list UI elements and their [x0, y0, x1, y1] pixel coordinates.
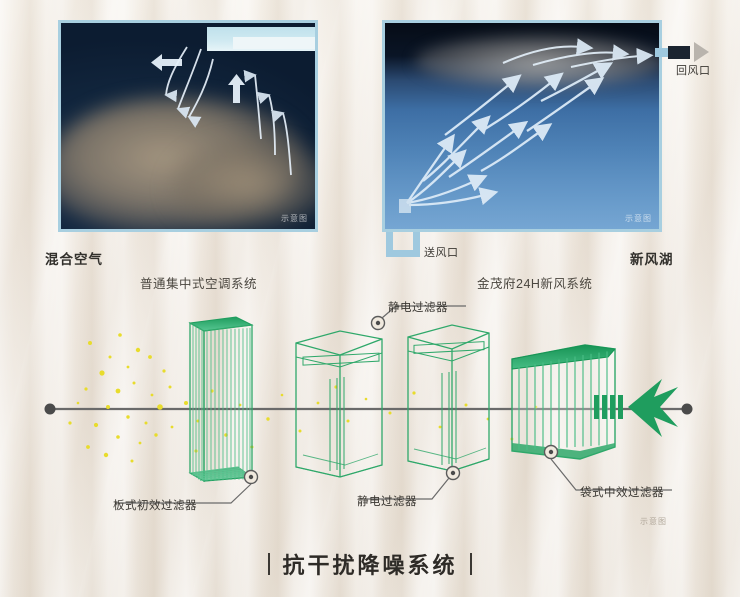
title-bar-right	[470, 553, 472, 575]
caption-mixed-air: 混合空气	[45, 248, 103, 268]
label-supply-vent: 送风口	[424, 244, 459, 260]
filter-pre-panel	[190, 317, 252, 481]
filter-electrostatic-2	[408, 325, 489, 471]
photo-jinmao-fresh-air: 示意图	[382, 20, 662, 232]
return-air-arrow-icon	[694, 42, 709, 62]
airflow-arrows-right	[385, 23, 659, 229]
label-return-vent: 回风口	[676, 62, 711, 78]
title-text: 抗干扰降噪系统	[282, 548, 457, 580]
watermark-schematic: 示意图	[640, 516, 667, 527]
airflow-arrows-left	[61, 23, 315, 229]
filter-bag-medium	[512, 345, 678, 459]
label-esp-filter-1: 静电过滤器	[388, 299, 448, 315]
caption-fresh-air-lake: 新风湖	[630, 248, 674, 268]
label-bag-filter: 袋式中效过滤器	[580, 484, 664, 500]
return-duct-opening	[668, 46, 690, 59]
caption-jinmao-system: 金茂府24H新风系统	[477, 273, 592, 292]
photo-ordinary-central-ac: 示意图	[58, 20, 318, 232]
filter-electrostatic-1	[296, 331, 382, 477]
supply-pipe-vertical-2	[413, 232, 420, 252]
watermark-left-photo: 示意图	[281, 213, 308, 224]
label-esp-filter-2: 静电过滤器	[357, 493, 417, 509]
title-bar-left	[268, 553, 270, 575]
label-pre-filter: 板式初效过滤器	[113, 497, 197, 513]
dust-particles	[68, 333, 537, 462]
watermark-right-photo: 示意图	[625, 213, 652, 224]
caption-ordinary-system: 普通集中式空调系统	[140, 273, 257, 292]
footer-section-title: 抗干扰降噪系统	[0, 548, 740, 580]
